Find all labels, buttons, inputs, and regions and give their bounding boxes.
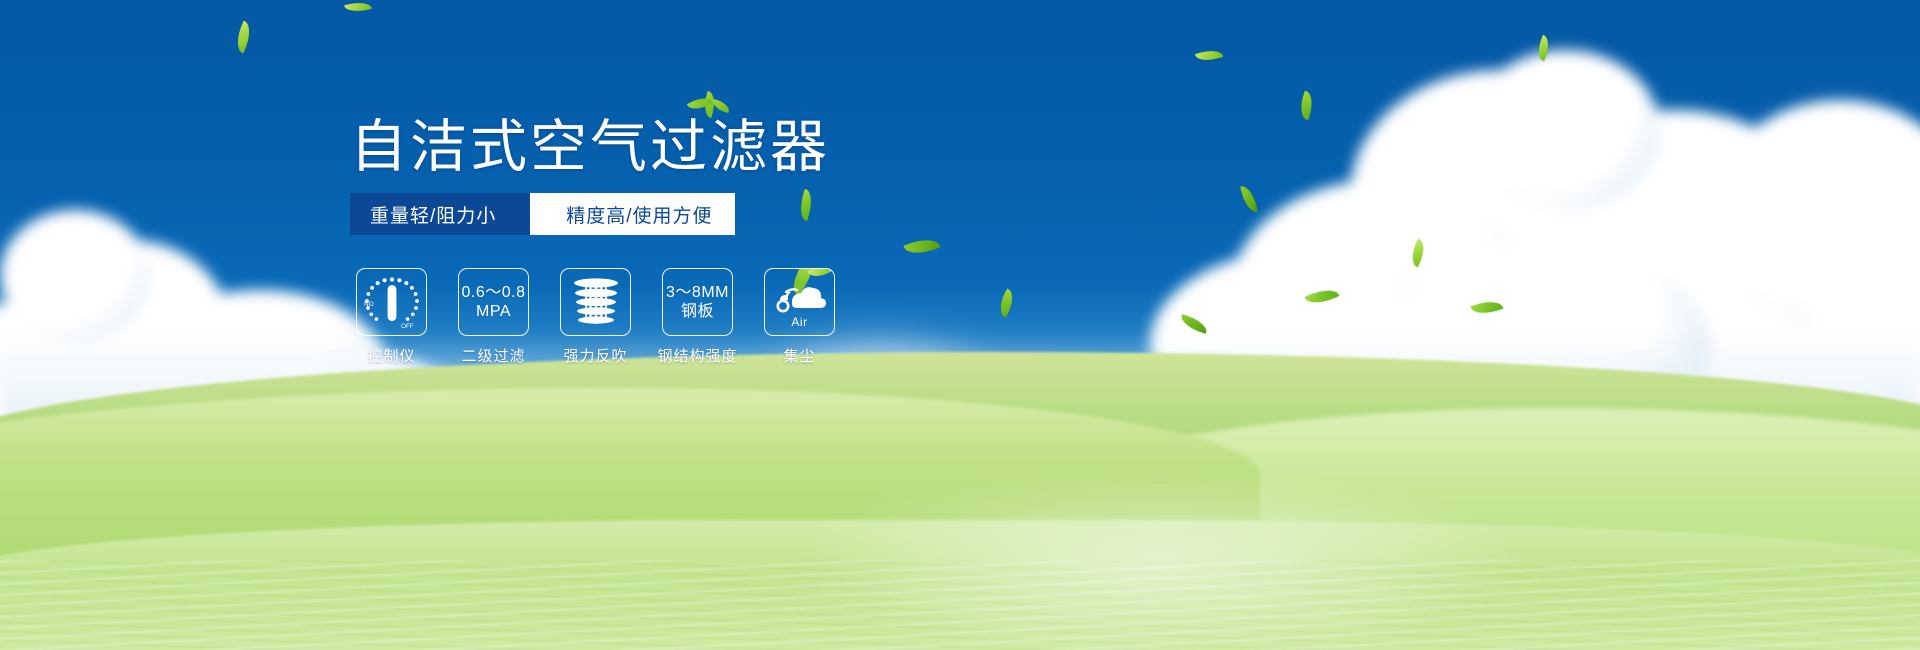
- pressure-range: 0.6〜0.8: [462, 283, 526, 302]
- page-title: 自洁式空气过滤器: [350, 116, 830, 178]
- hero-banner: 自洁式空气过滤器 重量轻/阻力小 精度高/使用方便: [0, 0, 1920, 650]
- feature-box: NO OFF: [356, 268, 427, 336]
- pressure-text-icon: 0.6〜0.8 MPA: [462, 283, 526, 321]
- leaf-sprig-icon: [684, 92, 730, 126]
- air-label: Air: [765, 315, 834, 329]
- steel-thickness: 3〜8MM: [666, 283, 729, 302]
- steel-material: 钢板: [666, 302, 729, 321]
- feature-box: Air: [764, 268, 835, 336]
- feature-icon-row: NO OFF 控制仪 0.6〜0.8 MPA 二级过滤: [356, 268, 835, 366]
- feature-item-pressure[interactable]: 0.6〜0.8 MPA 二级过滤: [458, 268, 529, 366]
- feature-label: 控制仪: [367, 345, 415, 366]
- feature-box: 0.6〜0.8 MPA: [458, 268, 529, 336]
- feature-item-blowback[interactable]: 强力反吹: [560, 268, 631, 366]
- feature-label: 集尘: [783, 345, 815, 366]
- feature-label: 强力反吹: [563, 345, 627, 366]
- pressure-unit: MPA: [462, 302, 526, 321]
- feature-label: 钢结构强度: [658, 345, 738, 366]
- badge-lightweight[interactable]: 重量轻/阻力小: [350, 193, 530, 235]
- feature-box: 3〜8MM 钢板: [662, 268, 733, 336]
- feature-item-control[interactable]: NO OFF 控制仪: [356, 268, 427, 366]
- air-icon-wrap: Air: [765, 269, 834, 335]
- badge-precision[interactable]: 精度高/使用方便: [530, 193, 734, 235]
- control-dial-icon: NO OFF: [361, 273, 423, 331]
- feature-badges: 重量轻/阻力小 精度高/使用方便: [350, 193, 735, 235]
- feature-item-steel[interactable]: 3〜8MM 钢板 钢结构强度: [662, 268, 733, 366]
- steel-plate-text-icon: 3〜8MM 钢板: [666, 283, 729, 321]
- dial-mark-no: NO: [364, 301, 374, 308]
- feature-item-dust[interactable]: Air 集尘: [764, 268, 835, 366]
- filter-cartridge-icon: [569, 276, 623, 328]
- feature-box: [560, 268, 631, 336]
- dial-mark-off: OFF: [401, 323, 414, 330]
- banner-content: 自洁式空气过滤器 重量轻/阻力小 精度高/使用方便: [0, 0, 1920, 650]
- badge-label: 精度高/使用方便: [566, 201, 712, 228]
- feature-label: 二级过滤: [461, 345, 525, 366]
- badge-label: 重量轻/阻力小: [370, 201, 496, 228]
